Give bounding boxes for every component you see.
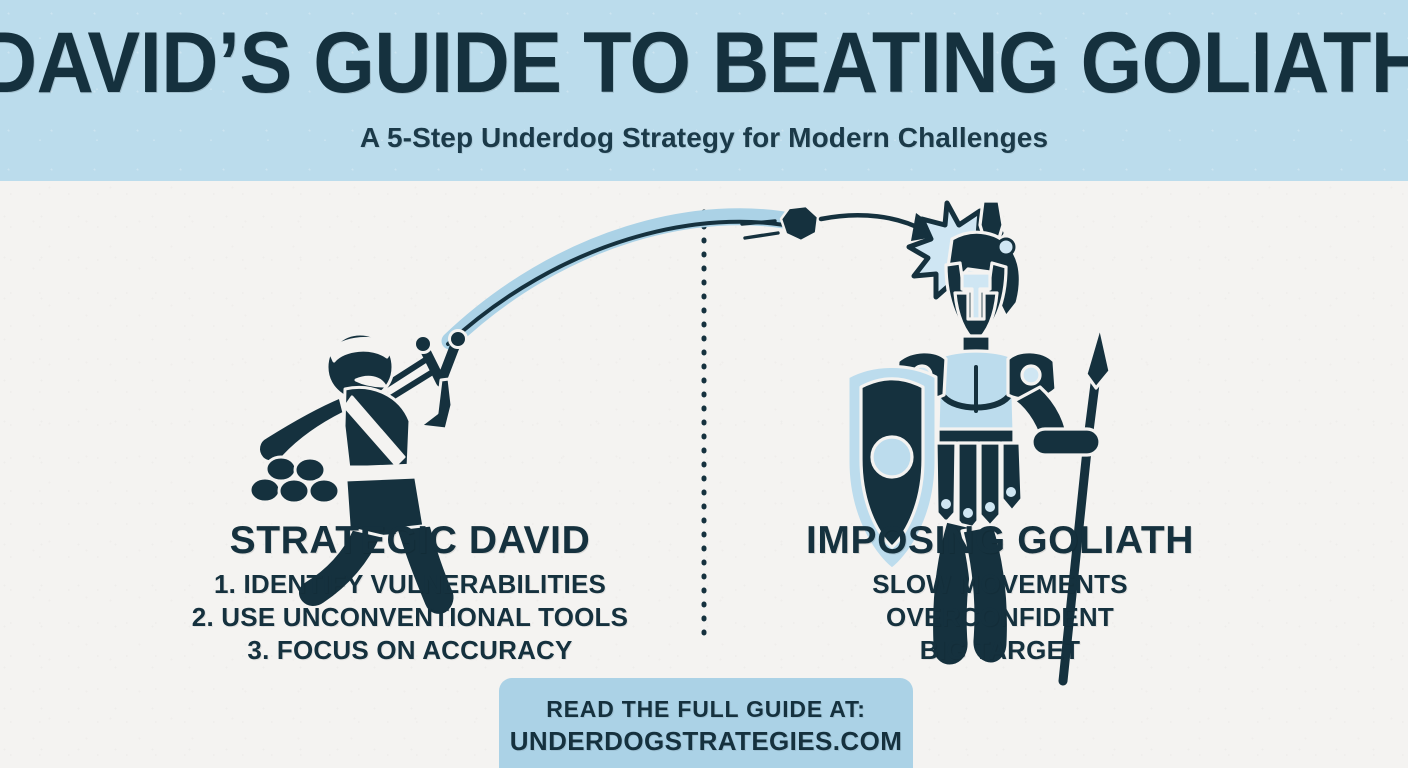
david-trait-2: 2. USE UNCONVENTIONAL TOOLS: [144, 601, 676, 634]
trajectory-arc-glow: [450, 217, 800, 341]
goliath-trait-list: SLOW MOVEMENTS OVERCONFIDENT BIG TARGET: [744, 568, 1256, 668]
cta-prompt: READ THE FULL GUIDE AT:: [546, 696, 866, 723]
cta-website-link[interactable]: UNDERDOGSTRATEGIES.COM: [510, 726, 903, 757]
page-subtitle: A 5-Step Underdog Strategy for Modern Ch…: [360, 122, 1048, 154]
goliath-trait-2: OVERCONFIDENT: [744, 601, 1256, 634]
goliath-panel: IMPOSING GOLIATH SLOW MOVEMENTS OVERCONF…: [744, 521, 1256, 668]
spear-head-icon: [1086, 326, 1110, 388]
trajectory-arc-line: [448, 222, 800, 344]
david-trait-1: 1. IDENTIFY VULNERABILITIES: [144, 568, 676, 601]
goliath-heading: IMPOSING GOLIATH: [744, 521, 1256, 562]
infographic-poster: DAVID’S GUIDE TO BEATING GOLIATH A 5-Ste…: [0, 0, 1408, 768]
stone-projectile-icon: [781, 206, 818, 241]
impact-arrow-icon: [821, 215, 925, 231]
david-trait-3: 3. FOCUS ON ACCURACY: [144, 634, 676, 667]
goliath-trait-1: SLOW MOVEMENTS: [744, 568, 1256, 601]
david-trait-list: 1. IDENTIFY VULNERABILITIES 2. USE UNCON…: [144, 568, 676, 668]
david-panel: STRATEGIC DAVID 1. IDENTIFY VULNERABILIT…: [144, 521, 676, 668]
header-band: DAVID’S GUIDE TO BEATING GOLIATH A 5-Ste…: [0, 0, 1408, 181]
david-heading: STRATEGIC DAVID: [144, 521, 676, 562]
goliath-trait-3: BIG TARGET: [744, 634, 1256, 667]
cta-banner[interactable]: READ THE FULL GUIDE AT: UNDERDOGSTRATEGI…: [499, 678, 913, 768]
stone-pile-icon: [250, 457, 339, 503]
page-title: DAVID’S GUIDE TO BEATING GOLIATH: [0, 22, 1408, 105]
